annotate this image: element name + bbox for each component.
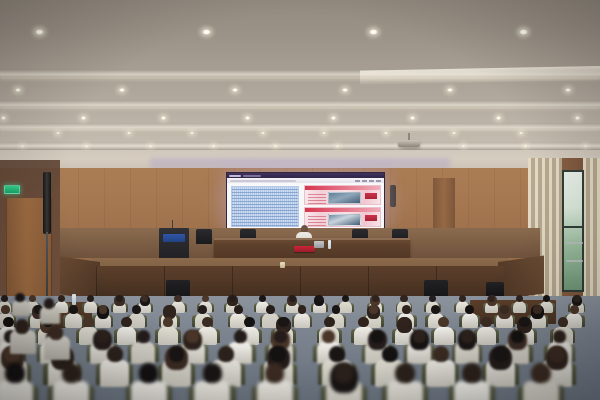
audience-member-head [332, 305, 341, 314]
audience-member-head [278, 317, 289, 328]
ceiling-downlight [331, 116, 336, 120]
audience-member-body [294, 313, 310, 328]
audience-member-head [289, 295, 296, 302]
audience-member-body [339, 301, 352, 313]
audience-member-head [573, 295, 580, 302]
audience-member-head [488, 295, 495, 302]
audience-member-head [165, 305, 174, 314]
audience-member-head [174, 295, 181, 302]
tall-window-right [562, 170, 584, 292]
audience-member-head [169, 346, 185, 362]
audience-member-body [513, 301, 526, 313]
audience-member-head [462, 363, 482, 383]
ceiling-downlight [384, 132, 388, 135]
menu-item-icon [369, 180, 374, 182]
audience-member-head [58, 295, 65, 302]
ceiling-downlight [85, 145, 88, 147]
audience-member-head [459, 295, 466, 302]
audience-member-head [369, 305, 378, 314]
news-card-header [305, 186, 380, 190]
menu-item-icon [355, 180, 360, 182]
ceiling [0, 0, 600, 172]
news-card-bottom [304, 207, 381, 227]
ceiling-downlight [21, 145, 24, 147]
window-bar [566, 242, 583, 244]
audience-member-head [141, 295, 148, 302]
news-card-text [308, 193, 326, 204]
ceiling-downlight [245, 116, 250, 120]
cove-light-strip [0, 130, 600, 133]
water-bottle-icon [72, 294, 76, 305]
audience-member-body [65, 313, 81, 328]
ceiling-downlight [149, 145, 152, 147]
audience-member-body [100, 360, 129, 387]
ceiling-coffer-right [360, 66, 600, 85]
ceiling-downlight [127, 132, 131, 135]
audience-member-head [533, 305, 542, 314]
window-bar [566, 260, 583, 262]
ceiling-downlight [410, 116, 415, 120]
ceiling-downlight [35, 29, 44, 35]
audience-member-head [399, 317, 410, 328]
audience-member-head [87, 295, 94, 302]
audience-member-head [83, 317, 94, 328]
news-card-photo [328, 192, 361, 204]
stage-cup-icon [280, 262, 285, 268]
audience-member-body [387, 381, 423, 400]
menu-item-icon [376, 180, 381, 182]
audience-member-head [15, 293, 25, 303]
audience-member-head [500, 305, 509, 314]
audience-member-head [543, 295, 550, 302]
slide-body [227, 183, 384, 229]
lectern [159, 228, 189, 261]
audience-member-head [298, 305, 307, 314]
audience-member-head [229, 295, 236, 302]
audience-member-head [99, 305, 108, 314]
audience-member-body [434, 327, 454, 345]
ceiling-downlight [342, 88, 348, 92]
audience-member-head [44, 298, 55, 309]
ceiling-downlight [232, 88, 238, 92]
exit-sign-icon [4, 185, 20, 194]
audience-member-body [84, 301, 97, 313]
audience-member-head [265, 363, 285, 383]
audience-member-head [244, 317, 255, 328]
audience-member-head [203, 363, 223, 383]
audience-member-head [382, 346, 398, 362]
audience-member-head [29, 295, 36, 302]
audience-member-body [53, 381, 89, 400]
audience-member-head [511, 330, 524, 343]
audience-member-head [218, 346, 234, 362]
stage-side-left [60, 256, 100, 300]
audience-member-body [131, 342, 155, 364]
audience-member-body [0, 381, 33, 400]
news-card-header [305, 208, 380, 212]
audience-member-head [186, 330, 199, 343]
audience-member-head [558, 317, 569, 328]
audience-member-body [257, 381, 293, 400]
audience-member-head [371, 330, 384, 343]
address-bar [230, 180, 296, 182]
cove-light-strip [0, 78, 600, 81]
stage-side-right [498, 256, 544, 300]
slide-left-panel [227, 183, 302, 229]
ceiling-downlight [261, 132, 265, 135]
chinese-text-document [231, 186, 299, 227]
audience-member-head [431, 305, 440, 314]
ceiling-projector [398, 140, 420, 147]
audience-member-head [274, 330, 287, 343]
audience-member-head [234, 305, 243, 314]
audience-member-head [266, 305, 275, 314]
wall-speaker-right [390, 185, 396, 207]
ceiling-downlight [452, 132, 456, 135]
projection-screen-content [227, 173, 384, 229]
news-card-photo [328, 214, 361, 226]
audience-member-head [69, 305, 78, 314]
audience-member-body [44, 336, 70, 360]
audience-member-head [519, 317, 530, 328]
beige-curtains[interactable] [583, 158, 600, 300]
news-card-accent-block [365, 215, 377, 221]
toolbar-menu-icons [355, 180, 381, 182]
audience-member-body [10, 330, 36, 354]
audience-member-head [553, 330, 566, 343]
audience-member-head [438, 317, 449, 328]
ceiling-downlight [524, 145, 527, 147]
title-bar-chip [243, 175, 261, 177]
audience-member-head [324, 317, 335, 328]
audience-member-head [413, 330, 426, 343]
ceiling-downlight [81, 116, 86, 120]
audience-member-head [202, 317, 213, 328]
audience-member-body [566, 313, 582, 328]
ceiling-downlight [369, 29, 378, 35]
audience-member-body [117, 327, 137, 345]
audience-member-head [400, 295, 407, 302]
audience-member-head [342, 295, 349, 302]
audience-member-head [137, 330, 150, 343]
audience-member-body [158, 327, 178, 345]
ceiling-downlight [575, 116, 580, 120]
audience-member-head [15, 319, 29, 333]
audience-member-head [202, 295, 209, 302]
stage-chair [196, 229, 212, 244]
ceiling-downlight [519, 29, 528, 35]
audience-member-head [322, 330, 335, 343]
laptop-icon [314, 241, 324, 248]
news-card-accent-block [365, 193, 377, 199]
audience-member-head [107, 346, 123, 362]
water-bottle-icon [328, 240, 331, 249]
ceiling-downlight [447, 88, 453, 92]
audience-member-head [234, 330, 247, 343]
audience-member-head [549, 346, 565, 362]
audience-member-body [454, 381, 490, 400]
audience-member-head [270, 346, 286, 362]
column-speaker-left [43, 172, 51, 234]
audience-member-head [481, 317, 492, 328]
audience-member-head [465, 305, 474, 314]
ceiling-downlight [462, 145, 465, 147]
audience-member-head [132, 305, 141, 314]
news-card-top [304, 185, 381, 205]
presenter-nameplate [294, 246, 315, 252]
audience-member-head [96, 330, 109, 343]
audience-member-head [116, 295, 123, 302]
audience-member-head [198, 305, 207, 314]
audience-member-head [1, 305, 10, 314]
audience-member-head [334, 363, 354, 383]
audience-member-body [477, 327, 497, 345]
ceiling-downlight [202, 29, 211, 35]
projection-screen[interactable] [226, 172, 385, 230]
audience-member-head [570, 305, 579, 314]
audience-member-head [372, 295, 379, 302]
audience-member-head [429, 295, 436, 302]
audience-member-head [62, 363, 82, 383]
ceiling-downlight [190, 132, 194, 135]
ceiling-downlight [336, 145, 339, 147]
ceiling-downlight [15, 88, 21, 92]
audience-member-body [426, 360, 455, 387]
title-bar-chip [229, 175, 241, 177]
lectern-sign [163, 234, 185, 242]
audience-member-head [316, 295, 323, 302]
ceiling-downlight [519, 132, 523, 135]
audience-member-body [462, 313, 478, 328]
audience-member-head [493, 346, 509, 362]
audience-member-head [395, 363, 415, 383]
ceiling-downlight [584, 145, 587, 147]
menu-item-icon [362, 180, 367, 182]
ceiling-downlight [496, 116, 501, 120]
audience-member-head [461, 330, 474, 343]
audience-member-body [194, 381, 230, 400]
auditorium-photo [0, 0, 600, 400]
ceiling-downlight [1, 116, 6, 120]
audience-member-head [516, 295, 523, 302]
ceiling-coffer-band [0, 143, 600, 149]
audience-member-head [259, 295, 266, 302]
audience-member-head [402, 305, 411, 314]
audience-member-head [139, 363, 159, 383]
audience-member-head [531, 363, 551, 383]
audience-member-body [131, 381, 167, 400]
ceiling-downlight [56, 132, 60, 135]
audience-member-body [40, 306, 60, 324]
audience-member-head [1, 295, 8, 302]
audience-member-head [329, 346, 345, 362]
ceiling-downlight [565, 88, 571, 92]
news-card-text [308, 215, 326, 226]
audience-member-body [523, 381, 559, 400]
audience-member-body [12, 300, 30, 316]
cove-light-strip [0, 108, 600, 111]
audience-member-head [121, 317, 132, 328]
ceiling-downlight [322, 132, 326, 135]
ceiling-downlight [161, 116, 166, 120]
audience-member-head [433, 346, 449, 362]
ceiling-downlight [119, 88, 125, 92]
slide-right-panel [302, 183, 384, 229]
audience-member-head [49, 325, 63, 339]
audience-member-head [5, 363, 25, 383]
